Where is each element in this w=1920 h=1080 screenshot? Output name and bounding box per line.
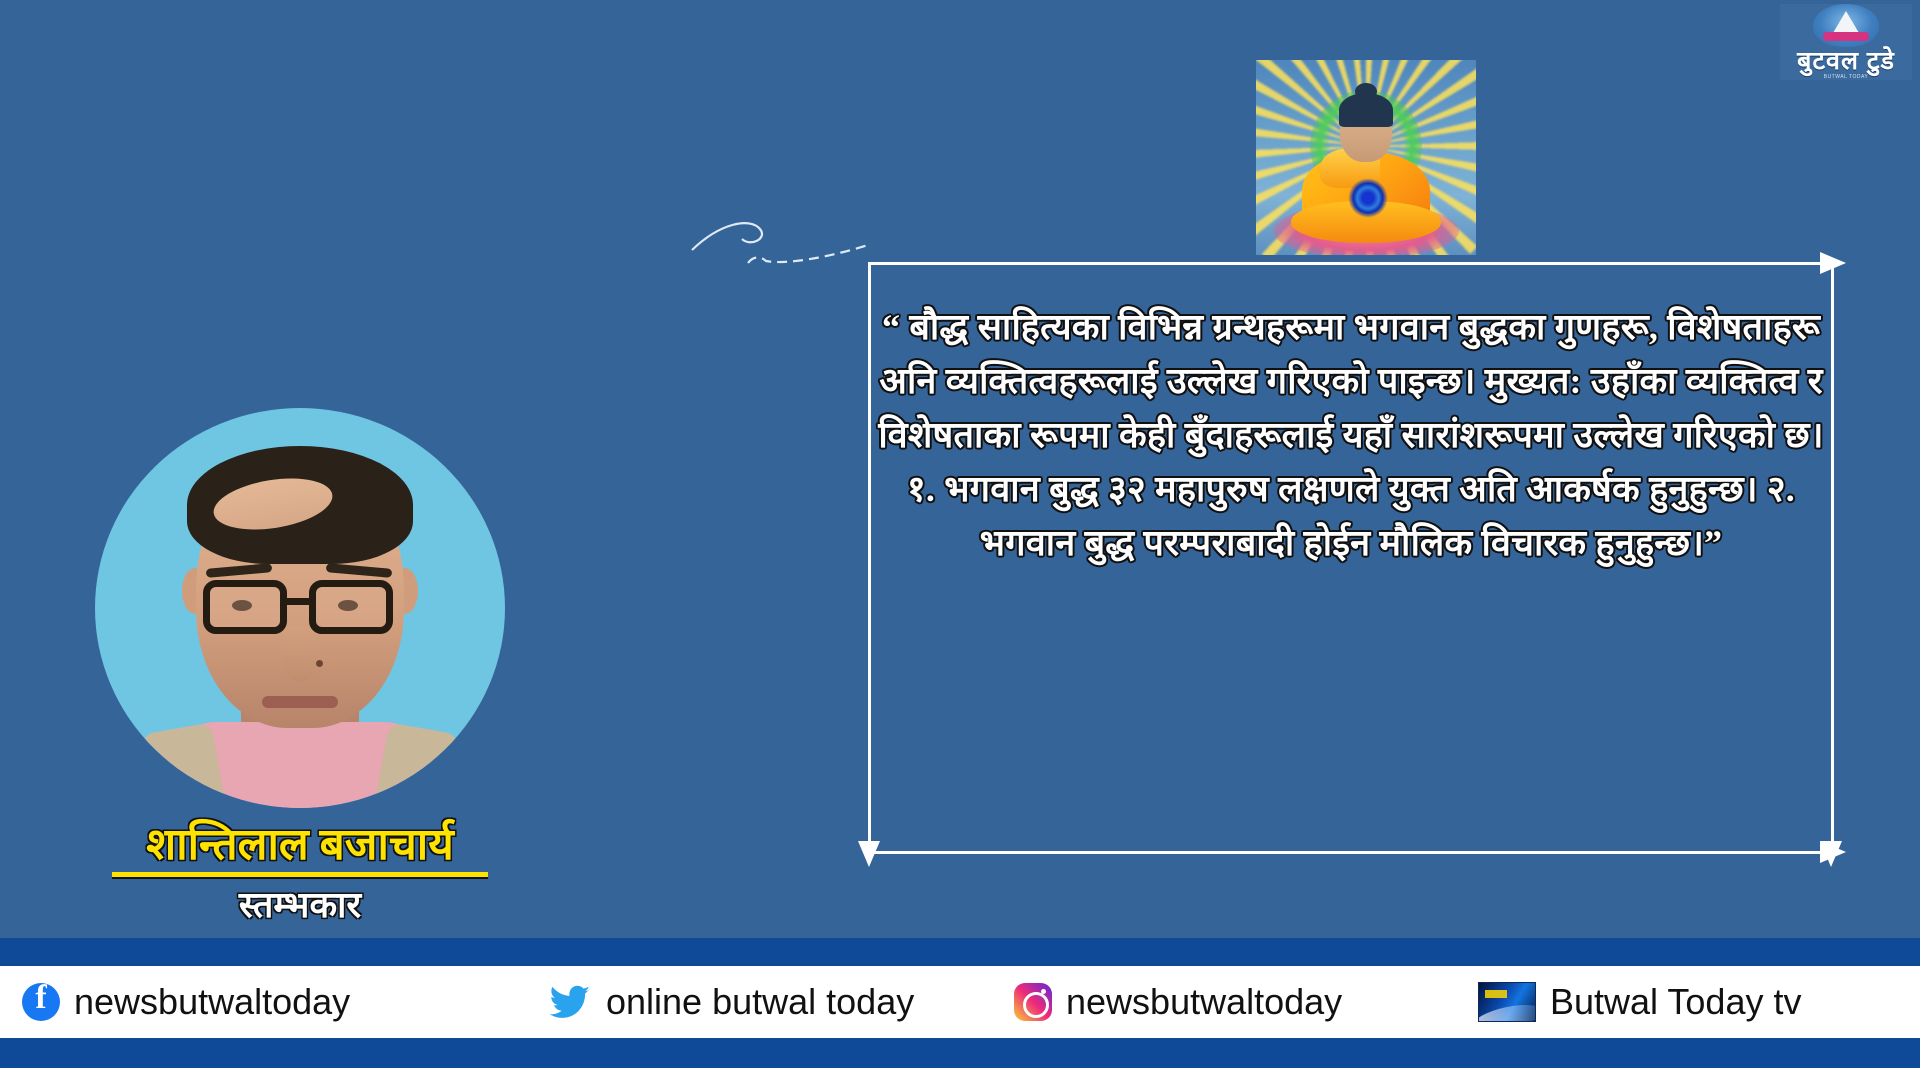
buddha-hair (1339, 93, 1393, 127)
news-quote-poster: बुटवल टुडे BUTWAL TODAY “ बौद्ध साहित्यक… (0, 0, 1920, 1080)
eyeglasses-bridge (287, 598, 313, 605)
portrait-mole (316, 660, 323, 667)
facebook-icon (22, 983, 60, 1021)
social-footer-bar: newsbutwaltoday online butwal today news… (0, 966, 1920, 1038)
portrait-mouth (262, 696, 338, 708)
brand-logo: बुटवल टुडे BUTWAL TODAY (1780, 4, 1912, 80)
arrow-right-icon-top (1820, 252, 1846, 274)
twitter-icon (548, 984, 592, 1020)
social-item-facebook[interactable]: newsbutwaltoday (22, 982, 350, 1022)
eyeglasses-icon-left (203, 580, 287, 634)
social-label-instagram: newsbutwaltoday (1066, 982, 1342, 1022)
chakra-icon (1348, 178, 1388, 218)
quote-frame-bottom-line (868, 851, 1834, 854)
mountain-emblem-icon (1813, 4, 1879, 47)
quote-frame-left-line (868, 262, 871, 854)
quote-text: “ बौद्ध साहित्यका विभिन्न ग्रन्थहरूमा भग… (878, 300, 1824, 570)
author-role: स्तम्भकार (0, 880, 600, 930)
portrait-hair (187, 446, 413, 564)
brand-logo-text: बुटवल टुडे (1797, 48, 1895, 74)
footer-top-band (0, 938, 1920, 966)
quote-frame-right-line (1831, 262, 1834, 854)
tv-channel-icon (1478, 982, 1536, 1022)
arrow-down-icon-bottom-left (858, 841, 880, 867)
social-label-facebook: newsbutwaltoday (74, 982, 350, 1022)
meditating-buddha-image (1256, 60, 1476, 255)
instagram-icon (1014, 983, 1052, 1021)
footer-edge-strip (0, 1068, 1920, 1080)
quote-swoosh-decoration (690, 215, 880, 275)
author-portrait-photo (95, 408, 505, 808)
author-name-underline (112, 872, 488, 877)
social-label-twitter: online butwal today (606, 982, 914, 1022)
brand-logo-subtext: BUTWAL TODAY (1824, 74, 1869, 80)
quote-frame-top-line (868, 262, 1834, 265)
portrait-nose (283, 626, 317, 682)
author-name: शान्तिलाल बजाचार्य (0, 818, 600, 872)
portrait-shirt (175, 722, 425, 808)
arrow-down-icon-bottom-right (1820, 841, 1842, 867)
social-label-tv: Butwal Today tv (1550, 982, 1801, 1022)
social-item-instagram[interactable]: newsbutwaltoday (1014, 982, 1342, 1022)
eyeglasses-icon-right (309, 580, 393, 634)
social-item-tv[interactable]: Butwal Today tv (1478, 982, 1801, 1022)
social-item-twitter[interactable]: online butwal today (548, 982, 914, 1022)
footer-bottom-band (0, 1038, 1920, 1068)
